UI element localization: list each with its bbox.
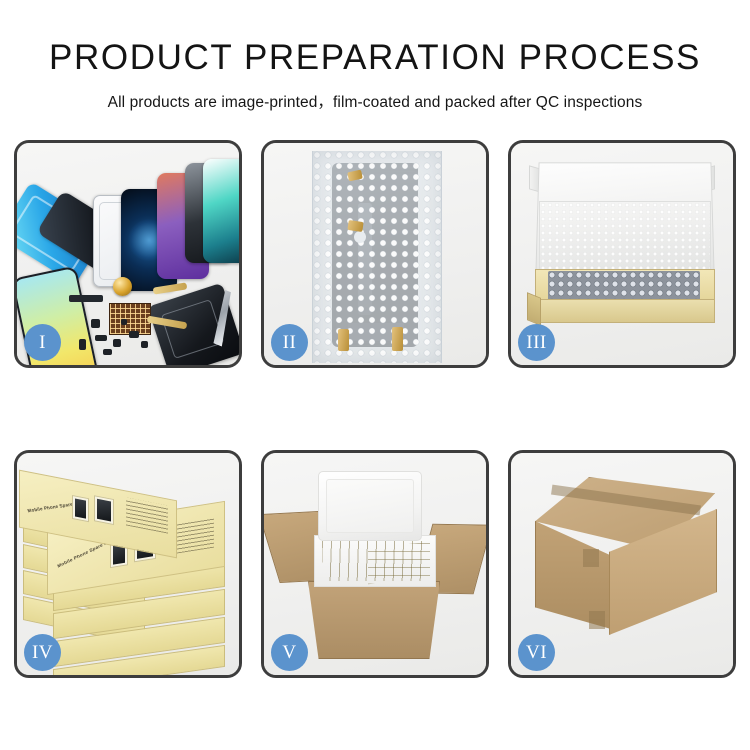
page-title: PRODUCT PREPARATION PROCESS xyxy=(0,40,750,77)
small-part-icon xyxy=(103,349,112,355)
small-part-icon xyxy=(79,339,86,350)
inner-boxes-icon xyxy=(368,542,430,585)
process-step-panel-3[interactable]: III xyxy=(508,140,736,368)
small-part-icon xyxy=(121,319,127,325)
process-step-panel-4[interactable]: Mobile Phone Spare Parts Mobile Phone Sp… xyxy=(14,450,242,678)
small-part-icon xyxy=(95,335,107,341)
step-badge-2: II xyxy=(271,324,308,361)
foam-lid-icon xyxy=(318,471,422,541)
tape-piece-icon xyxy=(392,327,403,351)
process-step-panel-6[interactable]: VI xyxy=(508,450,736,678)
step-badge-3: III xyxy=(518,324,555,361)
step-badge-1: I xyxy=(24,324,61,361)
box-window-icon xyxy=(72,495,89,522)
small-part-icon xyxy=(113,339,121,347)
foam-sheet-icon xyxy=(539,201,711,275)
carton-tab-icon xyxy=(589,611,605,629)
step-badge-6: VI xyxy=(518,634,555,671)
speaker-module-icon xyxy=(69,295,103,302)
process-step-panel-5[interactable]: V xyxy=(261,450,489,678)
phone-screen-teal-icon xyxy=(203,159,239,263)
tape-piece-icon xyxy=(347,220,363,232)
page-subtitle: All products are image-printed，film-coat… xyxy=(0,90,750,112)
box-spec-lines xyxy=(126,497,168,533)
page-header: PRODUCT PREPARATION PROCESS All products… xyxy=(0,0,750,112)
process-step-panel-1[interactable]: I xyxy=(14,140,242,368)
part-connector-icon xyxy=(354,231,366,243)
box-tray-side-icon xyxy=(527,292,541,326)
carton-tab-icon xyxy=(583,549,599,567)
step-badge-4: IV xyxy=(24,634,61,671)
small-part-icon xyxy=(141,341,148,348)
box-window-icon xyxy=(94,495,114,525)
process-step-panel-2[interactable]: II xyxy=(261,140,489,368)
camera-lens-icon xyxy=(113,277,132,296)
process-step-grid: I II III xyxy=(14,140,736,678)
small-part-icon xyxy=(129,331,139,338)
step-badge-5: V xyxy=(271,634,308,671)
tape-piece-icon xyxy=(338,329,349,351)
box-tray-front-icon xyxy=(535,299,715,323)
small-part-icon xyxy=(91,319,100,328)
carton-body-icon xyxy=(308,581,440,659)
bubble-wrap-icon xyxy=(312,151,442,363)
